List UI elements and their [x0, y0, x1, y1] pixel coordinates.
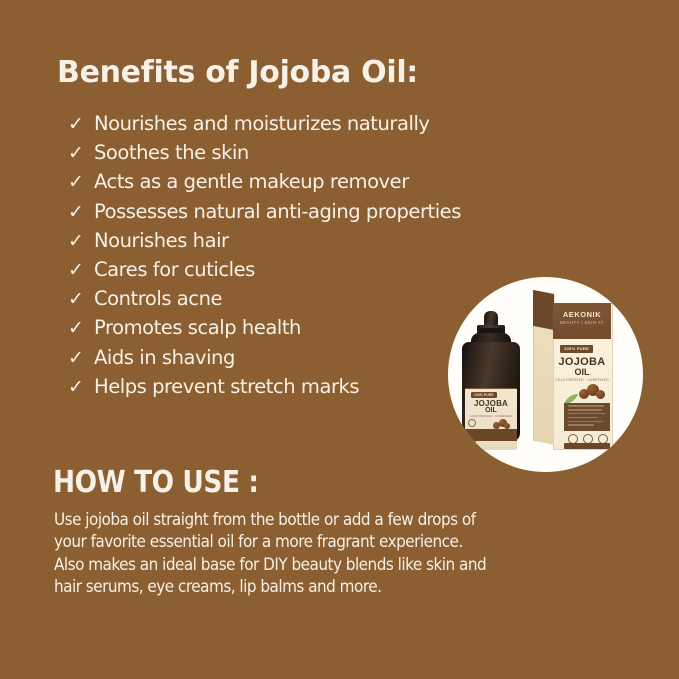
benefit-label: Soothes the skin [94, 143, 249, 163]
bottle-brand-bar [465, 388, 517, 389]
bottle-purity-badge: 100% PURE [471, 392, 497, 398]
check-icon: ✓ [68, 115, 94, 134]
benefit-label: Promotes scalp health [94, 318, 301, 338]
box-brand-subtitle: BEAUTY | SKIN AT [553, 320, 611, 325]
box-brand: AEKONIK [553, 310, 611, 319]
list-item: ✓ Acts as a gentle makeup remover [68, 172, 488, 201]
benefit-label: Possesses natural anti-aging properties [94, 202, 461, 222]
howto-line: your favorite essential oil for a more f… [54, 531, 621, 553]
benefit-label: Helps prevent stretch marks [94, 377, 359, 397]
box-top-flap [533, 290, 554, 330]
box-title-line2: OIL [553, 367, 611, 377]
box-footer-bar [564, 443, 610, 449]
box-purity-badge: 100% PURE [560, 345, 593, 353]
product-image: AEKONIK BEAUTY | SKIN AT 100% PURE JOJOB… [448, 277, 643, 472]
product-stage: AEKONIK BEAUTY | SKIN AT 100% PURE JOJOB… [448, 277, 643, 472]
leaf-icon [468, 419, 476, 427]
benefit-label: Controls acne [94, 289, 222, 309]
list-item: ✓ Promotes scalp health [68, 318, 488, 347]
benefit-label: Nourishes and moisturizes naturally [94, 114, 430, 134]
box-description-panel [564, 403, 610, 431]
list-item: ✓ Aids in shaving [68, 348, 488, 377]
list-item: ✓ Nourishes hair [68, 231, 488, 260]
check-icon: ✓ [68, 144, 94, 163]
list-item: ✓ Controls acne [68, 289, 488, 318]
check-icon: ✓ [68, 319, 94, 338]
promo-graphic: Benefits of Jojoba Oil: ✓ Nourishes and … [0, 0, 679, 679]
check-icon: ✓ [68, 232, 94, 251]
benefit-label: Nourishes hair [94, 231, 229, 251]
howto-line: Use jojoba oil straight from the bottle … [54, 509, 621, 531]
benefits-list: ✓ Nourishes and moisturizes naturally ✓ … [68, 114, 488, 406]
check-icon: ✓ [68, 261, 94, 280]
page-title: Benefits of Jojoba Oil: [57, 55, 418, 90]
benefit-label: Cares for cuticles [94, 260, 255, 280]
bottle-label: AEKONIK BEAUTY | SKIN AT 100% PURE JOJOB… [465, 388, 517, 450]
check-icon: ✓ [68, 349, 94, 368]
box-subtitle: COLD PRESSED · UNREFINED [553, 378, 611, 382]
benefit-label: Aids in shaving [94, 348, 235, 368]
bottle-label-footer [465, 429, 517, 441]
product-bottle: AEKONIK BEAUTY | SKIN AT 100% PURE JOJOB… [462, 320, 520, 442]
howto-line: hair serums, eye creams, lip balms and m… [54, 576, 621, 598]
box-jojoba-nuts-illustration [577, 383, 607, 402]
list-item: ✓ Soothes the skin [68, 143, 488, 172]
bottle-body: AEKONIK BEAUTY | SKIN AT 100% PURE JOJOB… [462, 342, 520, 442]
howto-title: HOW TO USE : [53, 465, 258, 500]
list-item: ✓ Cares for cuticles [68, 260, 488, 289]
bottle-title-line2: OIL [465, 407, 517, 414]
check-icon: ✓ [68, 378, 94, 397]
check-icon: ✓ [68, 203, 94, 222]
list-item: ✓ Nourishes and moisturizes naturally [68, 114, 488, 143]
check-icon: ✓ [68, 290, 94, 309]
check-icon: ✓ [68, 173, 94, 192]
product-box: AEKONIK BEAUTY | SKIN AT 100% PURE JOJOB… [533, 295, 611, 448]
howto-body: Use jojoba oil straight from the bottle … [54, 509, 621, 598]
list-item: ✓ Possesses natural anti-aging propertie… [68, 202, 488, 231]
howto-line: Also makes an ideal base for DIY beauty … [54, 554, 621, 576]
benefit-label: Acts as a gentle makeup remover [94, 172, 409, 192]
list-item: ✓ Helps prevent stretch marks [68, 377, 488, 406]
